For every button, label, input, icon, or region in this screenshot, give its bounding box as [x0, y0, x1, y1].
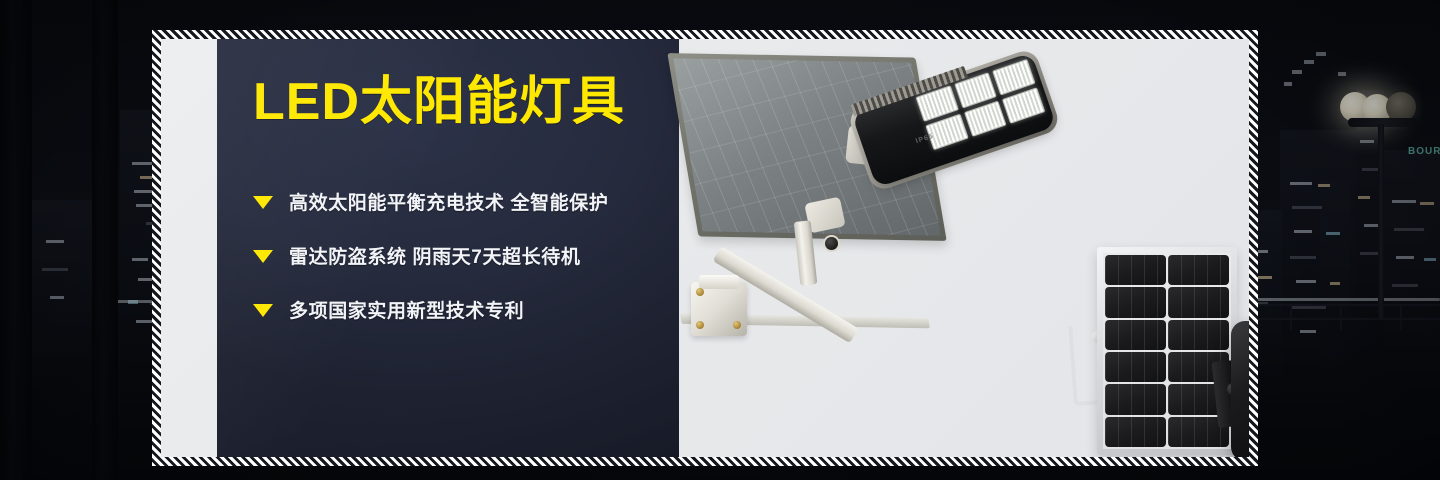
feature-item-2: 雷达防盗系统 阴雨天7天超长待机	[253, 242, 673, 269]
headline-panel: LED太阳能灯具 高效太阳能平衡充电技术 全智能保护 雷达防盗系统 阴雨天7天超…	[217, 39, 679, 457]
hatched-frame: LED太阳能灯具 高效太阳能平衡充电技术 全智能保护 雷达防盗系统 阴雨天7天超…	[152, 30, 1258, 466]
solar-cell	[1105, 352, 1166, 382]
flood-light-housing: Solar light 100W IP67	[1231, 321, 1249, 457]
solar-panel-image	[1097, 247, 1237, 455]
solar-cell	[1168, 287, 1229, 317]
solar-cell	[1105, 417, 1166, 447]
solar-cell	[1105, 384, 1166, 414]
mount-bolt	[696, 288, 704, 296]
solar-cell	[1105, 287, 1166, 317]
panel-aluminium-frame	[1097, 247, 1237, 455]
panel-cell-grid	[1103, 253, 1231, 449]
mount-bolt	[696, 321, 704, 329]
triangle-down-icon	[253, 304, 273, 317]
solar-cell	[1105, 320, 1166, 350]
solar-cell	[1105, 255, 1166, 285]
content-card: LED太阳能灯具 高效太阳能平衡充电技术 全智能保护 雷达防盗系统 阴雨天7天超…	[161, 39, 1249, 457]
feature-item-3: 多项国家实用新型技术专利	[253, 296, 673, 323]
solar-street-light-image: IP65	[679, 49, 1019, 319]
motion-sensor-icon	[825, 237, 838, 250]
feature-item-1: 高效太阳能平衡充电技术 全智能保护	[253, 188, 673, 215]
solar-cell	[1168, 255, 1229, 285]
feature-label: 高效太阳能平衡充电技术 全智能保护	[289, 188, 608, 215]
triangle-down-icon	[253, 250, 273, 263]
feature-label: 多项国家实用新型技术专利	[289, 296, 524, 323]
feature-label: 雷达防盗系统 阴雨天7天超长待机	[289, 242, 580, 269]
wall-mount-bracket	[691, 282, 747, 336]
solar-flood-light-image: Solar light 100W IP67	[1231, 321, 1249, 457]
page-title: LED太阳能灯具	[253, 76, 625, 128]
mount-bolt	[733, 321, 741, 329]
solar-cell	[1168, 320, 1229, 350]
product-showcase: IP65	[679, 39, 1249, 457]
feature-list: 高效太阳能平衡充电技术 全智能保护 雷达防盗系统 阴雨天7天超长待机 多项国家实…	[253, 188, 673, 350]
triangle-down-icon	[253, 196, 273, 209]
